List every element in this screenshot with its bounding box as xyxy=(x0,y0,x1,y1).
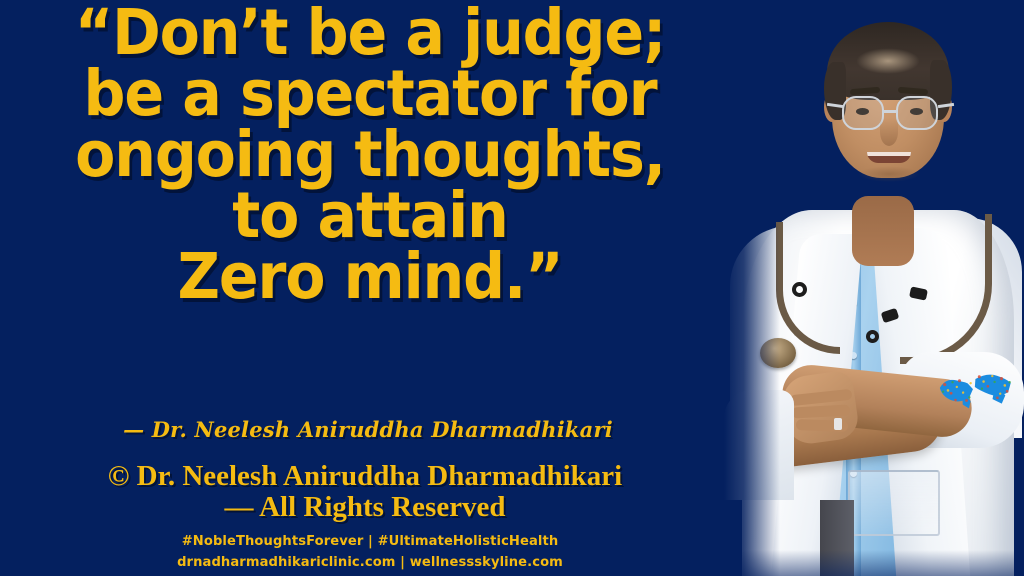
copyright-line-2: — All Rights Reserved xyxy=(0,492,730,523)
quote-line-1: “Don’t be a judge; xyxy=(26,2,714,63)
coat-sleeve-left xyxy=(724,390,794,500)
doctor-portrait-photo xyxy=(724,0,1024,576)
world-map-patch-icon xyxy=(935,368,1015,412)
quote-line-5: Zero mind.” xyxy=(26,246,714,307)
eyeglasses-lens-right xyxy=(896,96,938,130)
finger-ring xyxy=(834,418,842,430)
belt xyxy=(820,500,854,576)
footer-websites[interactable]: drnadharmadhikariclinic.com | wellnesssk… xyxy=(11,552,729,573)
eyeglasses-lens-left xyxy=(842,96,884,130)
smiling-mouth xyxy=(867,152,911,163)
nose xyxy=(880,118,898,146)
eyeglasses-bridge xyxy=(884,110,898,113)
quote-line-4: to attain xyxy=(26,185,714,246)
stethoscope-bell xyxy=(760,338,796,368)
quote-poster: “Don’t be a judge; be a spectator for on… xyxy=(0,0,1024,576)
footer-block: #NobleThoughtsForever | #UltimateHolisti… xyxy=(0,531,740,572)
quote-line-3: ongoing thoughts, xyxy=(26,124,714,185)
quote-text-block: “Don’t be a judge; be a spectator for on… xyxy=(0,2,740,308)
copyright-line-1: © Dr. Neelesh Aniruddha Dharmadhikari xyxy=(0,461,730,492)
footer-hashtags: #NobleThoughtsForever | #UltimateHolisti… xyxy=(11,531,729,552)
chin-shadow xyxy=(858,166,920,182)
quote-attribution: — Dr. Neelesh Aniruddha Dharmadhikari xyxy=(0,417,736,442)
forehead-highlight xyxy=(856,48,920,74)
coat-ring-detail xyxy=(792,282,807,297)
copyright-block: © Dr. Neelesh Aniruddha Dharmadhikari — … xyxy=(0,461,730,523)
quote-line-2: be a spectator for xyxy=(26,63,714,124)
coat-ring-detail xyxy=(866,330,879,343)
coat-pocket xyxy=(848,470,940,536)
